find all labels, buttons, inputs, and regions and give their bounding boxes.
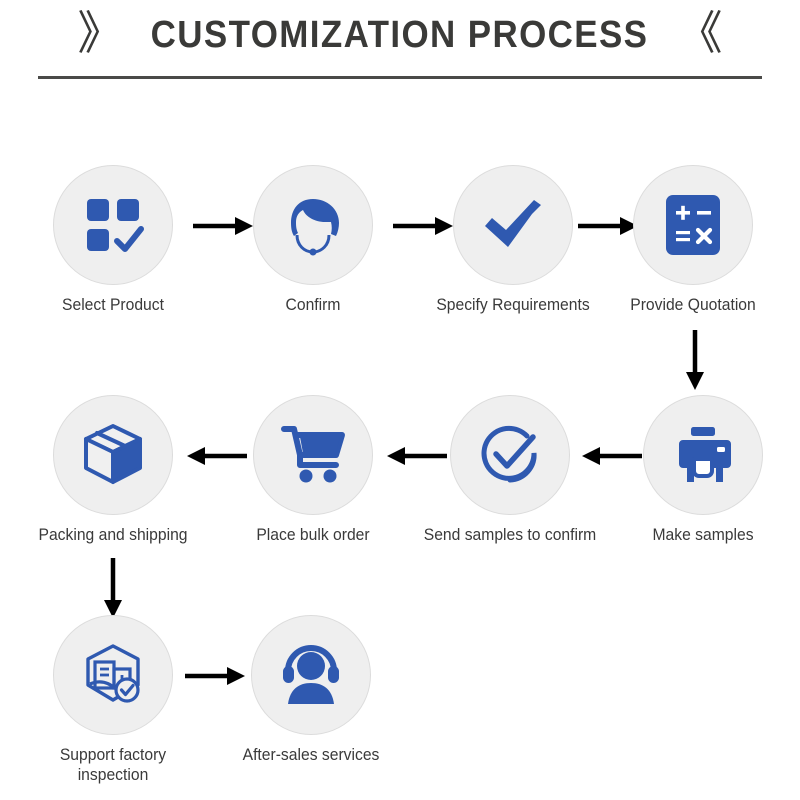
step-icon-circle <box>53 165 173 285</box>
step-label: Confirm <box>223 295 404 315</box>
step-label: Provide Quotation <box>603 295 784 315</box>
step-icon-circle <box>53 395 173 515</box>
calculator-icon <box>664 193 722 257</box>
step-label: Select Product <box>23 295 204 315</box>
headset-person-icon <box>278 644 344 706</box>
support-agent-icon <box>281 193 345 257</box>
process-step-send-samples-to-confirm[interactable]: Send samples to confirm <box>415 395 605 545</box>
step-icon-circle <box>53 615 173 735</box>
chevron-left-decoration-icon: 《 <box>677 10 723 56</box>
step-label: Packing and shipping <box>23 525 204 545</box>
circle-check-icon <box>477 422 543 488</box>
process-step-specify-requirements[interactable]: Specify Requirements <box>418 165 608 315</box>
step-label: Send samples to confirm <box>420 525 601 545</box>
step-icon-circle <box>453 165 573 285</box>
step-icon-circle <box>253 395 373 515</box>
step-icon-circle <box>633 165 753 285</box>
row2-to-row3-connector-arrow-down <box>100 558 126 620</box>
shopping-cart-icon <box>280 425 346 485</box>
step-label: After-sales services <box>221 745 402 765</box>
customization-process-infographic: 》 CUSTOMIZATION PROCESS 《 Select Product <box>0 0 800 800</box>
checkmark-icon <box>480 192 546 258</box>
step-label: Make samples <box>613 525 794 545</box>
step-icon-circle <box>253 165 373 285</box>
process-step-provide-quotation[interactable]: Provide Quotation <box>598 165 788 315</box>
step-label: Place bulk order <box>223 525 404 545</box>
step-label: Support factory inspection <box>23 745 204 785</box>
process-step-packing-and-shipping[interactable]: Packing and shipping <box>18 395 208 545</box>
process-step-support-factory-inspection[interactable]: Support factory inspection <box>18 615 208 785</box>
grid-check-icon <box>81 193 145 257</box>
page-title: 》 CUSTOMIZATION PROCESS 《 <box>0 12 800 58</box>
step-icon-circle <box>643 395 763 515</box>
chevron-right-decoration-icon: 》 <box>77 10 123 56</box>
step-icon-circle <box>450 395 570 515</box>
step-label: Specify Requirements <box>423 295 604 315</box>
process-step-make-samples[interactable]: Make samples <box>608 395 798 545</box>
process-step-select-product[interactable]: Select Product <box>18 165 208 315</box>
process-step-place-bulk-order[interactable]: Place bulk order <box>218 395 408 545</box>
package-box-icon <box>80 422 146 488</box>
row1-to-row2-connector-arrow-down <box>682 330 708 392</box>
title-divider <box>38 76 762 79</box>
process-step-confirm[interactable]: Confirm <box>218 165 408 315</box>
step-icon-circle <box>251 615 371 735</box>
page-title-text: CUSTOMIZATION PROCESS <box>151 14 649 57</box>
factory-inspection-icon <box>80 642 146 708</box>
process-step-after-sales-services[interactable]: After-sales services <box>216 615 406 765</box>
printer-icon <box>671 425 735 485</box>
